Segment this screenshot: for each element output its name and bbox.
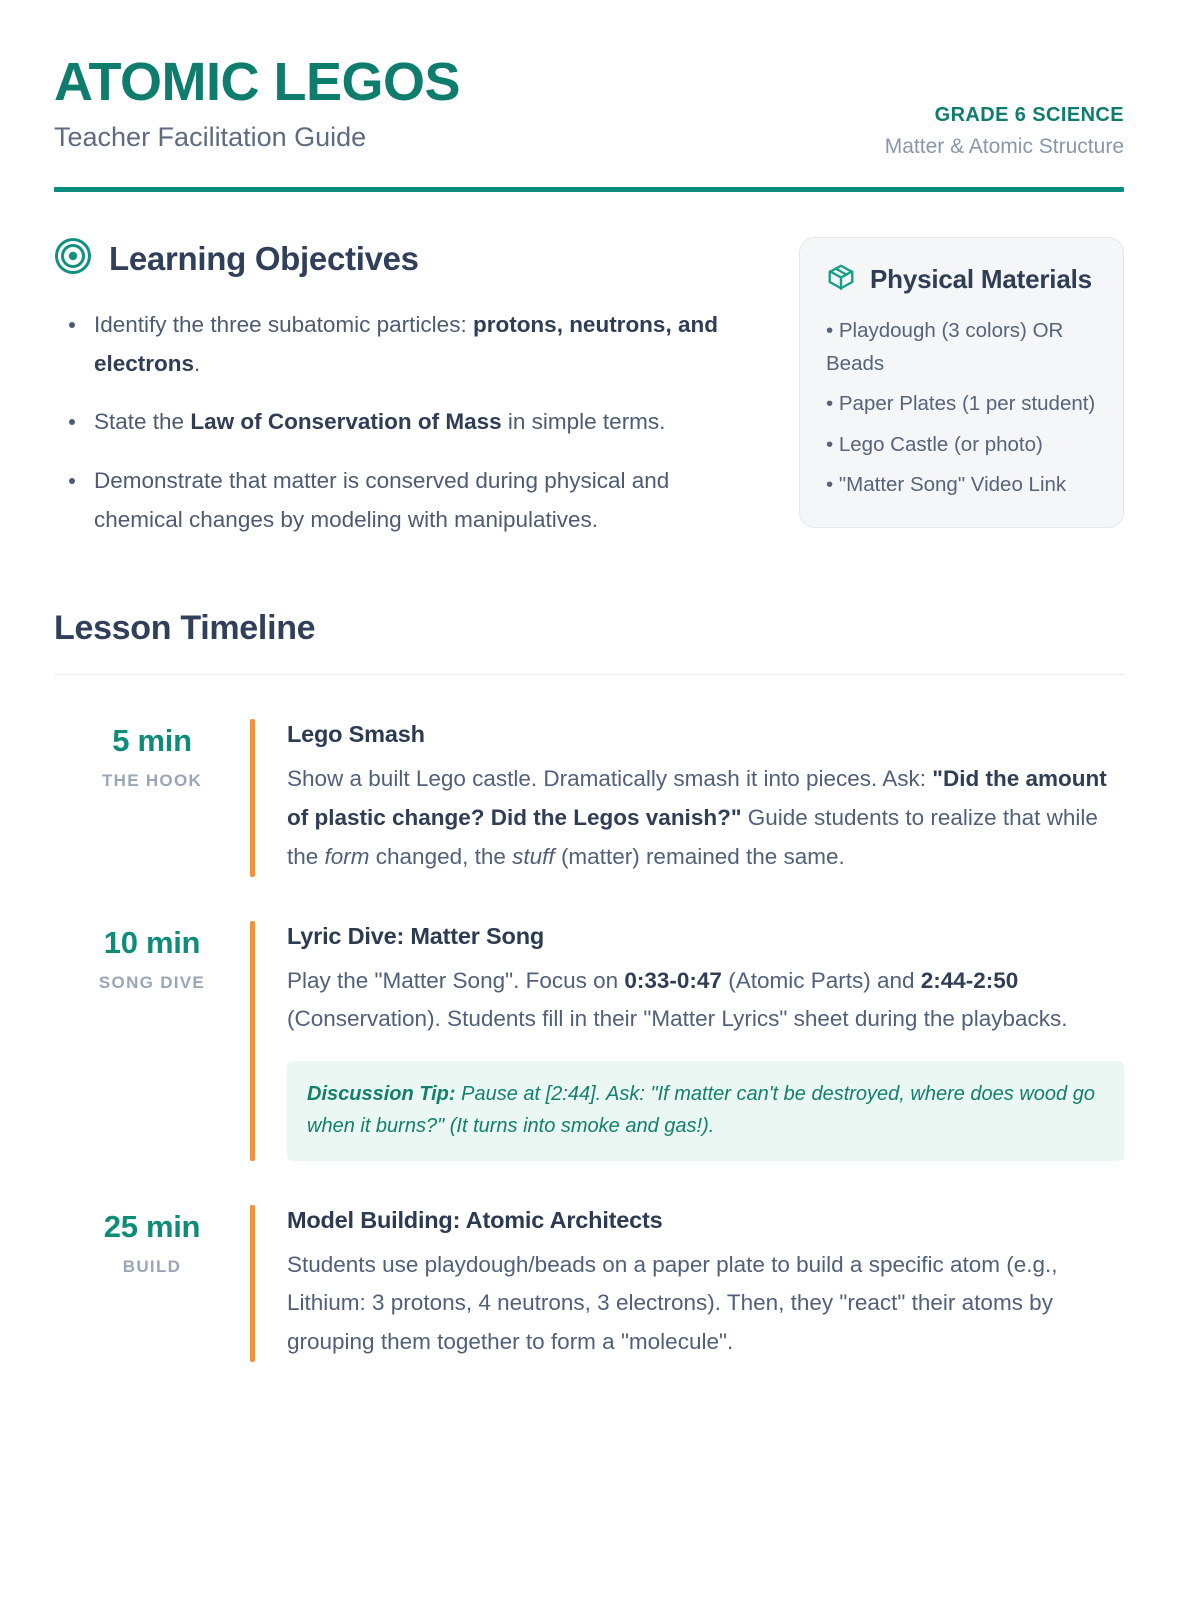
- box-icon: [826, 262, 856, 297]
- timeline-activity-text: Students use playdough/beads on a paper …: [287, 1246, 1124, 1362]
- timeline-text-segment: stuff: [512, 844, 555, 869]
- timeline-activity-title: Lego Smash: [287, 721, 1124, 748]
- timeline-text-segment: (Conservation). Students fill in their "…: [287, 1006, 1068, 1031]
- objective-item: State the Law of Conservation of Mass in…: [54, 403, 741, 442]
- timeline-text-segment: (matter) remained the same.: [555, 844, 845, 869]
- material-item: • "Matter Song" Video Link: [826, 468, 1097, 501]
- timeline-block: 5 minTHE HOOKLego SmashShow a built Lego…: [54, 719, 1124, 876]
- timeline-duration: 5 min: [54, 723, 250, 759]
- timeline-block: 10 minSONG DIVELyric Dive: Matter SongPl…: [54, 921, 1124, 1161]
- physical-materials-card: Physical Materials • Playdough (3 colors…: [799, 237, 1124, 528]
- timeline-activity-title: Lyric Dive: Matter Song: [287, 923, 1124, 950]
- timeline-phase-label: BUILD: [54, 1257, 250, 1277]
- timeline-activity-title: Model Building: Atomic Architects: [287, 1207, 1124, 1234]
- timeline-body: Lego SmashShow a built Lego castle. Dram…: [287, 719, 1124, 876]
- timeline-text-segment: form: [325, 844, 370, 869]
- discussion-tip-text: Discussion Tip: Pause at [2:44]. Ask: "I…: [307, 1078, 1104, 1143]
- timeline-block: 25 minBUILDModel Building: Atomic Archit…: [54, 1205, 1124, 1362]
- materials-header: Physical Materials: [826, 262, 1097, 297]
- timeline-left-column: 10 minSONG DIVE: [54, 921, 250, 1161]
- timeline-body: Model Building: Atomic ArchitectsStudent…: [287, 1205, 1124, 1362]
- learning-objectives-block: Learning Objectives Identify the three s…: [54, 237, 741, 539]
- objective-item: Identify the three subatomic particles: …: [54, 306, 741, 383]
- objective-text: State the: [94, 409, 190, 434]
- timeline-accent-bar: [250, 921, 255, 1161]
- timeline-body: Lyric Dive: Matter SongPlay the "Matter …: [287, 921, 1124, 1161]
- material-item: • Playdough (3 colors) OR Beads: [826, 314, 1097, 380]
- timeline-text-segment: Play the "Matter Song". Focus on: [287, 968, 624, 993]
- objective-text: in simple terms.: [502, 409, 666, 434]
- discussion-tip-label: Discussion Tip:: [307, 1083, 456, 1105]
- objectives-materials-section: Learning Objectives Identify the three s…: [54, 237, 1124, 539]
- timeline-activity-text: Show a built Lego castle. Dramatically s…: [287, 760, 1124, 876]
- timeline-left-column: 25 minBUILD: [54, 1205, 250, 1362]
- header-left-group: ATOMIC LEGOS Teacher Facilitation Guide: [54, 52, 460, 153]
- lesson-guide-page: ATOMIC LEGOS Teacher Facilitation Guide …: [0, 0, 1200, 1600]
- material-item: • Lego Castle (or photo): [826, 428, 1097, 461]
- timeline-duration: 25 min: [54, 1209, 250, 1245]
- target-icon: [54, 237, 92, 280]
- timeline-duration: 10 min: [54, 925, 250, 961]
- timeline-heading: Lesson Timeline: [54, 609, 1124, 648]
- objective-item: Demonstrate that matter is conserved dur…: [54, 462, 741, 539]
- objective-text: Identify the three subatomic particles:: [94, 312, 473, 337]
- materials-heading: Physical Materials: [870, 262, 1092, 296]
- materials-list: • Playdough (3 colors) OR Beads• Paper P…: [826, 314, 1097, 501]
- timeline-left-column: 5 minTHE HOOK: [54, 719, 250, 876]
- document-header: ATOMIC LEGOS Teacher Facilitation Guide …: [54, 52, 1124, 159]
- timeline-divider: [54, 674, 1124, 675]
- timeline-text-segment: (Atomic Parts) and: [722, 968, 921, 993]
- timeline-accent-bar: [250, 719, 255, 876]
- objective-text: Demonstrate that matter is conserved dur…: [94, 468, 669, 532]
- timeline-activity-text: Play the "Matter Song". Focus on 0:33-0:…: [287, 962, 1124, 1039]
- discussion-tip-callout: Discussion Tip: Pause at [2:44]. Ask: "I…: [287, 1061, 1124, 1161]
- learning-objectives-header: Learning Objectives: [54, 237, 741, 280]
- objective-emphasis: Law of Conservation of Mass: [190, 409, 501, 434]
- page-subtitle: Teacher Facilitation Guide: [54, 122, 460, 153]
- header-divider: [54, 187, 1124, 192]
- grade-label: GRADE 6 SCIENCE: [885, 104, 1124, 127]
- timeline-accent-bar: [250, 1205, 255, 1362]
- timeline-text-segment: changed, the: [370, 844, 513, 869]
- timeline-text-segment: Show a built Lego castle. Dramatically s…: [287, 766, 932, 791]
- timeline-phase-label: THE HOOK: [54, 771, 250, 791]
- objectives-list: Identify the three subatomic particles: …: [54, 306, 741, 539]
- learning-objectives-heading: Learning Objectives: [109, 240, 419, 278]
- material-item: • Paper Plates (1 per student): [826, 387, 1097, 420]
- timeline-text-segment: 2:44-2:50: [921, 968, 1019, 993]
- timeline-text-segment: 0:33-0:47: [624, 968, 722, 993]
- topic-label: Matter & Atomic Structure: [885, 135, 1124, 159]
- objective-text: .: [194, 351, 200, 376]
- header-right-group: GRADE 6 SCIENCE Matter & Atomic Structur…: [885, 52, 1124, 159]
- timeline-text-segment: Students use playdough/beads on a paper …: [287, 1252, 1058, 1354]
- timeline-rows: 5 minTHE HOOKLego SmashShow a built Lego…: [54, 719, 1124, 1361]
- timeline-phase-label: SONG DIVE: [54, 973, 250, 993]
- page-title: ATOMIC LEGOS: [54, 54, 460, 111]
